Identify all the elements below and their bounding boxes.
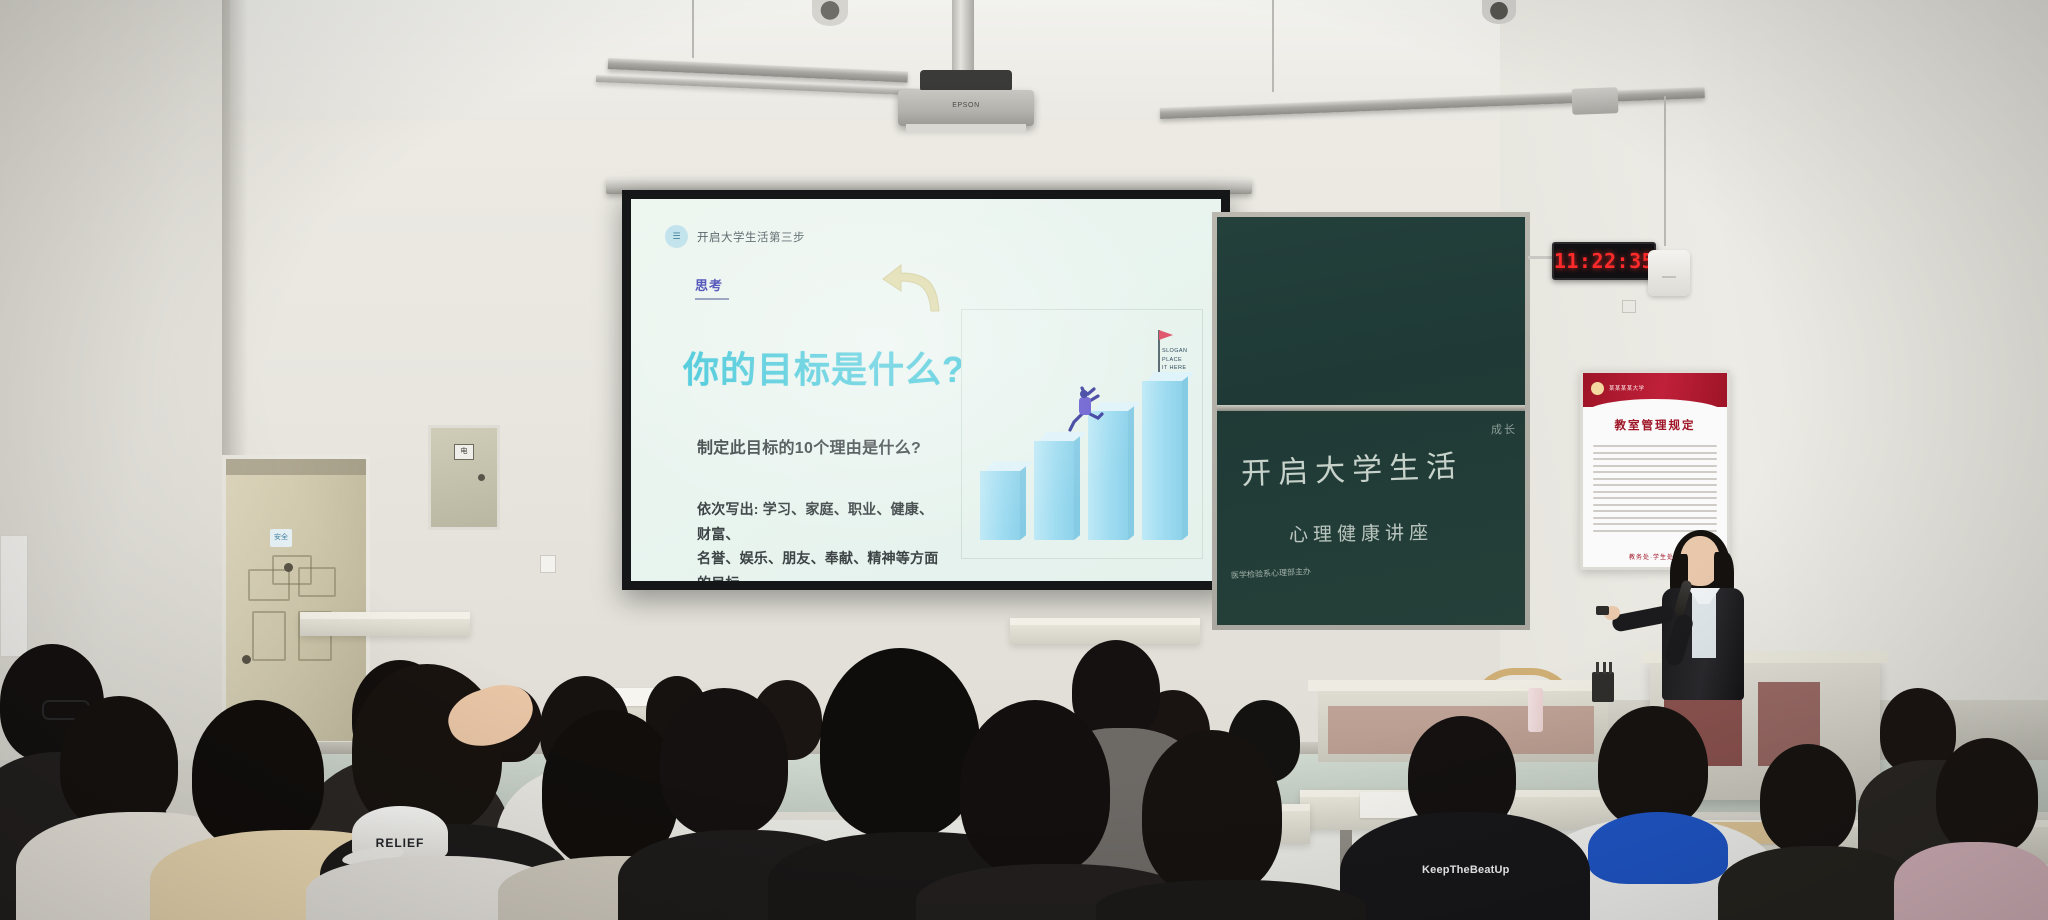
- jacket-text-label: KeepTheBeatUp: [1422, 864, 1510, 876]
- cap-text-label: RELIEF: [376, 836, 425, 850]
- hoodie-hood: [1588, 812, 1728, 884]
- student-head: [960, 700, 1110, 876]
- student-shoulders: [1894, 842, 2048, 920]
- classroom-photo: EPSON ☰ 开启大学生活第三步 思考 你的目标是什么? 制定此目标的10个理…: [0, 0, 2048, 920]
- baseball-cap: RELIEF: [352, 806, 448, 860]
- student-desk: [1010, 618, 1200, 644]
- student-head: [192, 700, 324, 850]
- student-head: [820, 648, 980, 838]
- student-shoulders: [1718, 846, 1918, 920]
- student-head: [1936, 738, 2038, 854]
- student-head: [1142, 730, 1282, 896]
- student-head: [660, 688, 788, 836]
- audience: KeepTheBeatUp RELIEF: [0, 0, 2048, 920]
- student-desk: [300, 612, 470, 636]
- student-head: [1760, 744, 1856, 854]
- student-head: [1598, 706, 1708, 828]
- student-head: [60, 696, 178, 830]
